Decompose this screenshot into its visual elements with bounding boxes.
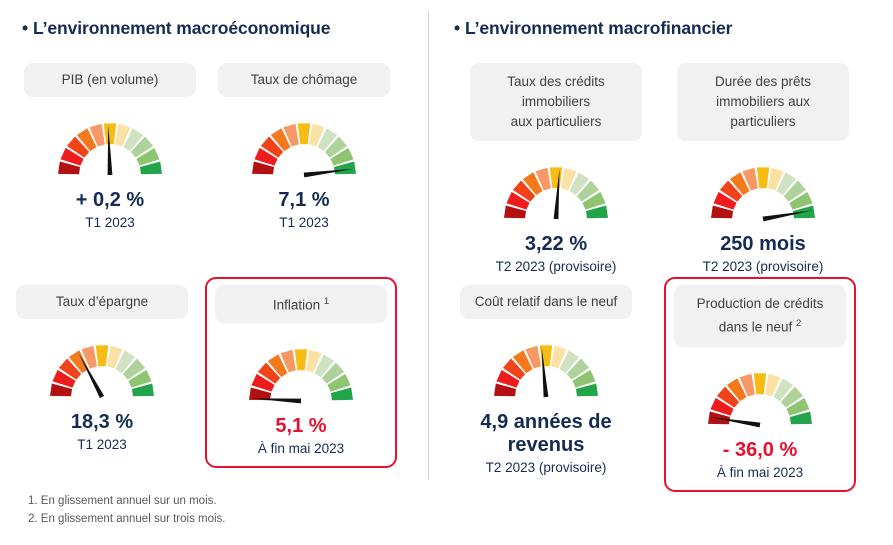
gauge	[670, 361, 850, 433]
indicator-value: - 36,0 %	[670, 439, 850, 462]
indicator-label: Durée des prêtsimmobiliers auxparticulie…	[677, 63, 849, 141]
gauge-segment	[295, 349, 307, 370]
gauge-dial	[468, 333, 624, 405]
footnotes: 1. En glissement annuel sur un mois. 2. …	[28, 492, 226, 528]
footnote-marker: 2	[796, 318, 801, 329]
gauge-dial	[478, 155, 634, 227]
indicator-period: T2 2023 (provisoire)	[466, 258, 646, 276]
indicator-card[interactable]: Taux de chômage7,1 %T1 2023	[208, 55, 400, 242]
indicator-card[interactable]: Taux des créditsimmobiliersaux particuli…	[460, 55, 652, 286]
gauge-dial	[24, 333, 180, 405]
indicator-card[interactable]: Durée des prêtsimmobiliers auxparticulie…	[667, 55, 859, 286]
bullet-icon: •	[22, 18, 33, 39]
gauge	[214, 111, 394, 183]
gauge-dial	[32, 111, 188, 183]
indicator-period: À fin mai 2023	[670, 464, 850, 482]
gauge-dial	[682, 361, 838, 433]
indicator-value: 250 mois	[673, 233, 853, 256]
footnote-item: 1. En glissement annuel sur un mois.	[28, 492, 226, 510]
indicator-card[interactable]: Production de créditsdans le neuf 2- 36,…	[664, 277, 856, 492]
indicator-label: Production de créditsdans le neuf 2	[674, 285, 846, 347]
indicator-card[interactable]: Coût relatif dans le neuf4,9 années dere…	[450, 277, 642, 487]
indicator-period: T2 2023 (provisoire)	[456, 459, 636, 477]
indicator-period: À fin mai 2023	[211, 440, 391, 458]
gauge	[673, 155, 853, 227]
panel-title-text: L’environnement macroéconomique	[33, 18, 330, 38]
indicator-period: T1 2023	[20, 214, 200, 232]
panel-divider	[428, 10, 429, 480]
indicator-value: 18,3 %	[12, 411, 192, 434]
gauge	[466, 155, 646, 227]
gauge-segment	[96, 345, 108, 366]
indicator-card[interactable]: Taux d’épargne18,3 %T1 2023	[6, 277, 198, 464]
gauge-dial	[223, 337, 379, 409]
indicator-value: 3,22 %	[466, 233, 646, 256]
indicator-value: 7,1 %	[214, 189, 394, 212]
panel-title-macroeconomique: •L’environnement macroéconomique	[22, 18, 330, 39]
indicator-label: Taux de chômage	[218, 63, 390, 97]
dashboard-page: •L’environnement macroéconomique PIB (en…	[0, 0, 893, 545]
indicator-label: Coût relatif dans le neuf	[460, 285, 632, 319]
indicator-value: 5,1 %	[211, 415, 391, 438]
indicator-period: T1 2023	[214, 214, 394, 232]
gauge-segment	[754, 373, 766, 394]
gauge-dial	[685, 155, 841, 227]
indicator-card[interactable]: Inflation 15,1 %À fin mai 2023	[205, 277, 397, 468]
indicator-value: 4,9 années derevenus	[456, 411, 636, 457]
gauge-segment	[550, 167, 562, 188]
gauge-dial	[226, 111, 382, 183]
gauge-segment	[298, 123, 310, 144]
panel-title-macrofinancier: •L’environnement macrofinancier	[454, 18, 732, 39]
indicator-label: Taux des créditsimmobiliersaux particuli…	[470, 63, 642, 141]
indicator-period: T2 2023 (provisoire)	[673, 258, 853, 276]
panel-title-text: L’environnement macrofinancier	[465, 18, 732, 38]
indicator-label: Inflation 1	[215, 285, 387, 323]
gauge-segment	[757, 167, 769, 188]
footnote-item: 2. En glissement annuel sur trois mois.	[28, 510, 226, 528]
gauge	[211, 337, 391, 409]
indicator-card[interactable]: PIB (en volume)+ 0,2 %T1 2023	[14, 55, 206, 242]
gauge	[456, 333, 636, 405]
indicator-label: PIB (en volume)	[24, 63, 196, 97]
bullet-icon: •	[454, 18, 465, 39]
gauge	[20, 111, 200, 183]
indicator-period: T1 2023	[12, 436, 192, 454]
indicator-label: Taux d’épargne	[16, 285, 188, 319]
gauge	[12, 333, 192, 405]
gauge-needle	[251, 398, 301, 403]
gauge-segment	[540, 345, 552, 366]
gauge-segment	[104, 123, 116, 144]
footnote-marker: 1	[324, 296, 329, 307]
indicator-value: + 0,2 %	[20, 189, 200, 212]
